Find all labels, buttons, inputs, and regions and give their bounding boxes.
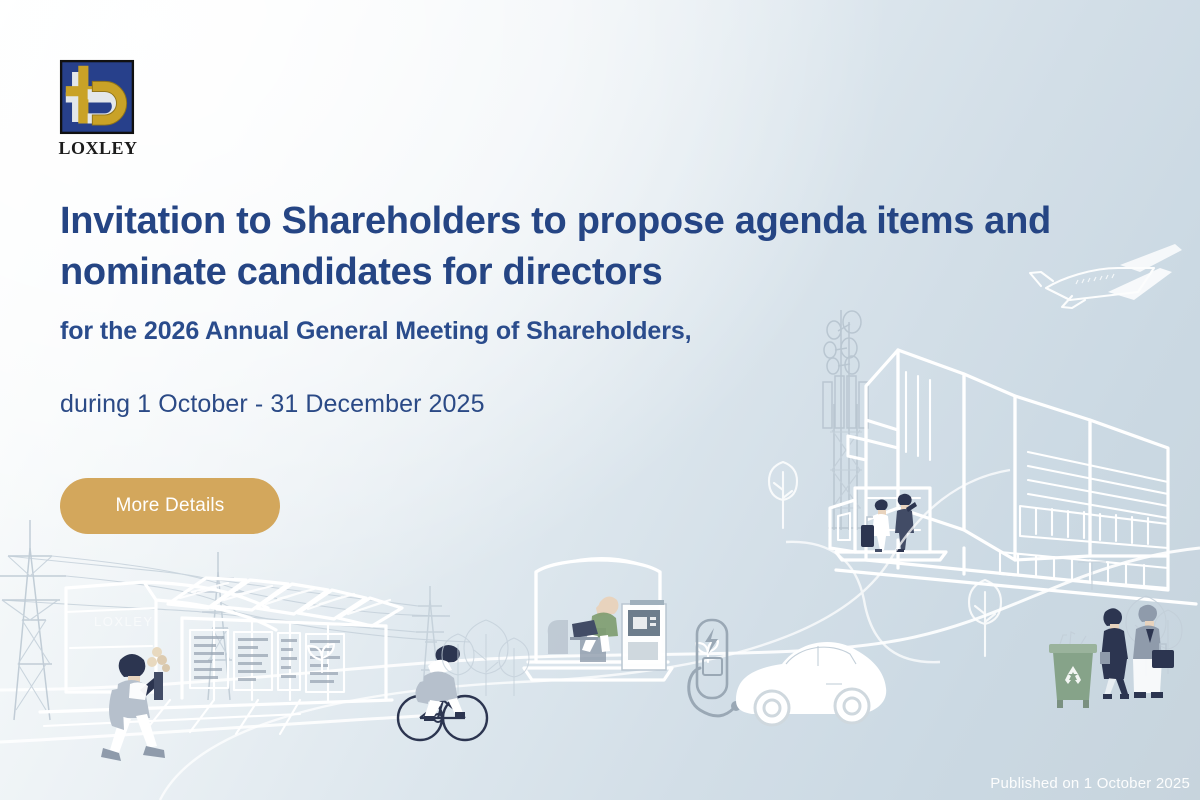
bus-shelter-icon bbox=[524, 558, 672, 680]
more-details-button[interactable]: More Details bbox=[60, 478, 280, 534]
loxley-wordmark: LOXLEY bbox=[58, 138, 138, 159]
server-racks bbox=[190, 630, 344, 692]
self-service-kiosk-icon bbox=[622, 600, 666, 670]
power-transmission-pylon bbox=[196, 552, 244, 700]
tree-outline-icon bbox=[769, 462, 1001, 656]
ev-charging-station-icon bbox=[689, 620, 741, 716]
loxley-logo[interactable]: LOXLEY bbox=[58, 58, 154, 159]
recycling-bin-icon bbox=[1049, 632, 1097, 708]
building-label: LOXLEY bbox=[94, 614, 154, 629]
loxley-logo-icon bbox=[58, 58, 136, 136]
ground-curve bbox=[160, 470, 1010, 800]
road-lines bbox=[0, 548, 1200, 742]
loxley-server-building-icon: LOXLEY bbox=[40, 578, 402, 734]
page-subtitle: for the 2026 Annual General Meeting of S… bbox=[60, 315, 960, 349]
solar-panel-array bbox=[168, 578, 402, 626]
cyclist-icon bbox=[398, 645, 487, 740]
business-people-walking-icon bbox=[1100, 605, 1174, 699]
tree-outline-icon bbox=[442, 620, 529, 696]
tree-outline-icon bbox=[1126, 596, 1182, 676]
power-transmission-pylon bbox=[0, 520, 66, 720]
pedestrian-with-flowers-icon bbox=[101, 647, 170, 761]
sapling-plant-icon bbox=[696, 641, 718, 662]
bus-stop-with-travellers-icon bbox=[830, 488, 946, 560]
street-pole-icon bbox=[1078, 562, 1106, 590]
electric-car-icon bbox=[736, 642, 886, 725]
submission-period: during 1 October - 31 December 2025 bbox=[60, 388, 860, 421]
modern-office-building-icon bbox=[836, 350, 1196, 604]
shareholder-invitation-banner: .w { fill:none; stroke:#ffffff; stroke-w… bbox=[0, 0, 1200, 800]
published-date: Published on 1 October 2025 bbox=[990, 775, 1190, 792]
person-with-laptop-icon bbox=[570, 596, 618, 652]
power-transmission-pylon bbox=[412, 586, 450, 700]
sapling-plant-icon bbox=[308, 644, 334, 672]
power-lines bbox=[2, 556, 470, 642]
page-title: Invitation to Shareholders to propose ag… bbox=[60, 196, 1080, 297]
